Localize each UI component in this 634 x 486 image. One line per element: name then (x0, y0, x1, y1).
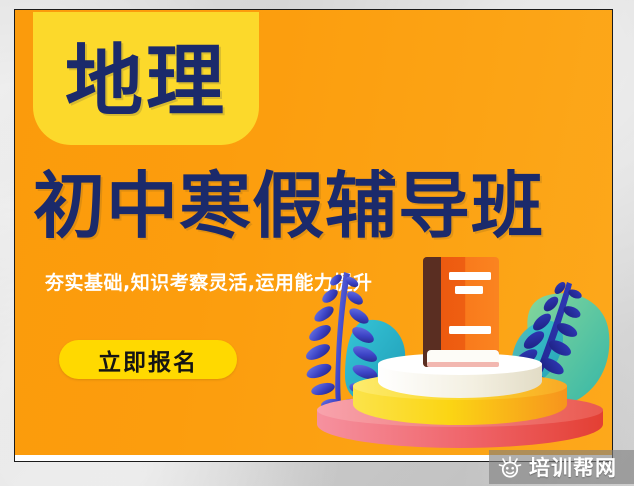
sun-face-icon (498, 456, 522, 478)
register-now-button[interactable]: 立即报名 (59, 340, 237, 379)
headline: 初中寒假辅导班 (33, 170, 612, 242)
register-now-label: 立即报名 (98, 343, 198, 377)
subject-tag: 地理 (33, 12, 259, 145)
promo-banner: 地理 初中寒假辅导班 夯实基础,知识考察灵活,运用能力提升 立即报名 (14, 9, 613, 462)
watermark-label: 培训帮网 (529, 452, 617, 482)
banner-artwork: 地理 初中寒假辅导班 夯实基础,知识考察灵活,运用能力提升 立即报名 (15, 10, 612, 456)
watermark: 培训帮网 (489, 450, 634, 484)
subject-tag-label: 地理 (65, 37, 227, 121)
book (423, 257, 499, 367)
book-on-podium-illustration (295, 238, 612, 456)
